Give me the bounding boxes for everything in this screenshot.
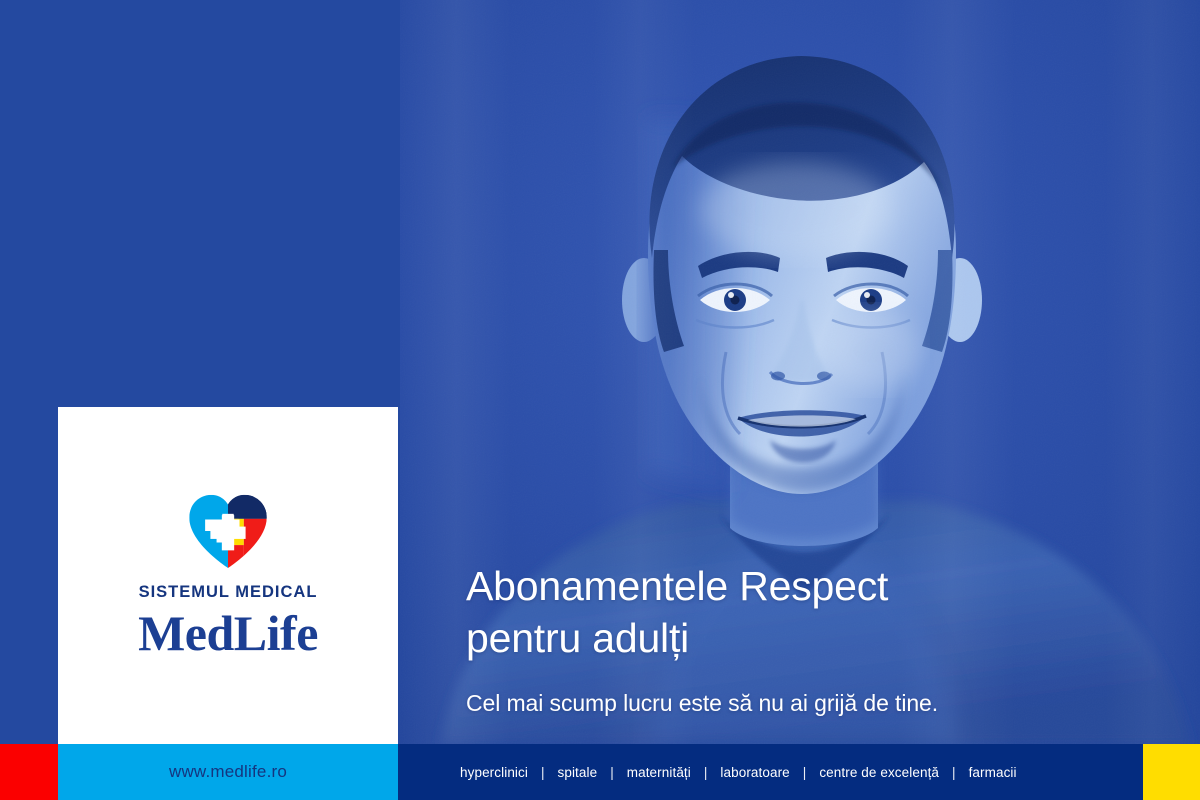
website-url[interactable]: www.medlife.ro (169, 762, 287, 782)
subheadline: Cel mai scump lucru este să nu ai grijă … (466, 689, 1106, 718)
service-link-spitale[interactable]: spitale (558, 765, 598, 780)
service-link-farmacii[interactable]: farmacii (969, 765, 1017, 780)
yellow-accent-chip (1143, 744, 1200, 800)
headline-line-1: Abonamentele Respect (466, 560, 1106, 612)
red-accent-chip (0, 744, 58, 800)
service-link-centre-de-excelență[interactable]: centre de excelență (819, 765, 939, 780)
service-link-maternități[interactable]: maternități (627, 765, 691, 780)
link-separator: | (939, 765, 969, 780)
service-link-hyperclinici[interactable]: hyperclinici (460, 765, 528, 780)
copy-block: Abonamentele Respect pentru adulți Cel m… (466, 560, 1106, 718)
bottom-bar: www.medlife.ro hyperclinici|spitale|mate… (0, 744, 1200, 800)
service-link-laboratoare[interactable]: laboratoare (720, 765, 789, 780)
headline-line-2: pentru adulți (466, 612, 1106, 664)
link-separator: | (790, 765, 820, 780)
medlife-heart-cross-icon (184, 492, 272, 570)
headline: Abonamentele Respect pentru adulți (466, 560, 1106, 665)
link-separator: | (597, 765, 627, 780)
logo-wordmark: MedLife (138, 607, 318, 660)
service-links: hyperclinici|spitale|maternități|laborat… (460, 765, 1017, 780)
service-links-strip: hyperclinici|spitale|maternități|laborat… (398, 744, 1143, 800)
link-separator: | (528, 765, 558, 780)
website-url-strip[interactable]: www.medlife.ro (58, 744, 398, 800)
logo-tagline: SISTEMUL MEDICAL (139, 584, 318, 601)
medlife-advert-banner: SISTEMUL MEDICAL MedLife Abonamentele Re… (0, 0, 1200, 800)
medlife-logo-card: SISTEMUL MEDICAL MedLife (58, 407, 398, 744)
link-separator: | (691, 765, 721, 780)
